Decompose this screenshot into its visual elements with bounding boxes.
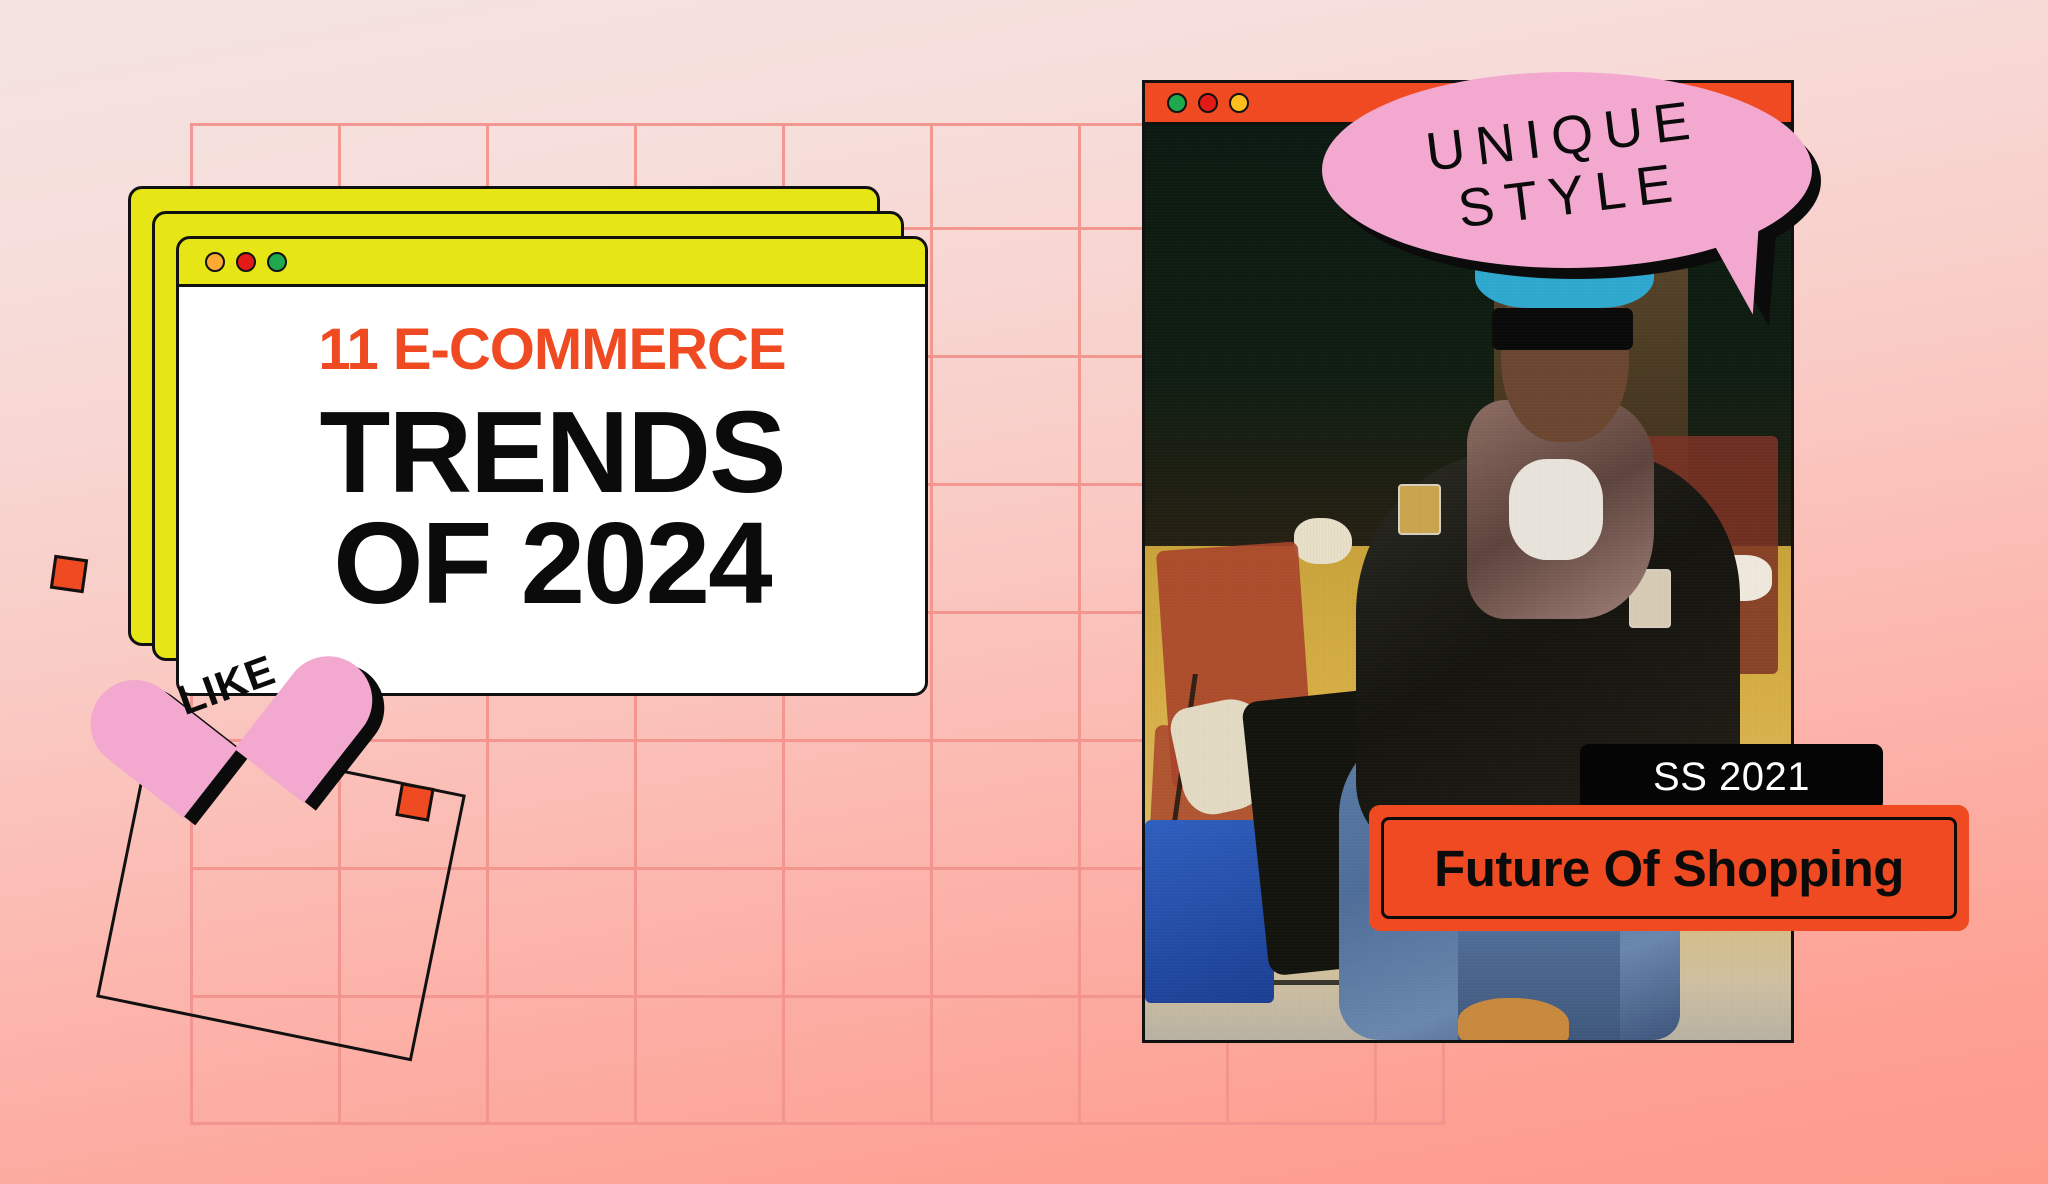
main-window-titlebar	[179, 239, 925, 287]
close-dot[interactable]	[236, 252, 256, 272]
maximize-dot[interactable]	[1167, 93, 1187, 113]
poster-canvas: 11 E-COMMERCE TRENDS OF 2024 LIKE	[0, 0, 2048, 1184]
like-heart-sticker[interactable]: LIKE	[133, 597, 343, 794]
title-line-2: OF 2024	[320, 508, 785, 619]
minimize-dot[interactable]	[1229, 93, 1249, 113]
headline-badge-label: Future Of Shopping	[1381, 817, 1957, 919]
maximize-dot[interactable]	[267, 252, 287, 272]
minimize-dot[interactable]	[205, 252, 225, 272]
eyebrow-text: 11 E-COMMERCE	[318, 321, 785, 379]
orange-square-marker-bottom	[395, 782, 434, 821]
speech-bubble: UNIQUE STYLE	[1322, 72, 1822, 302]
headline-badge[interactable]: Future Of Shopping	[1369, 805, 1969, 931]
close-dot[interactable]	[1198, 93, 1218, 113]
season-badge: SS 2021	[1580, 744, 1883, 811]
orange-square-marker-top	[50, 555, 88, 593]
page-title: TRENDS OF 2024	[320, 397, 785, 620]
